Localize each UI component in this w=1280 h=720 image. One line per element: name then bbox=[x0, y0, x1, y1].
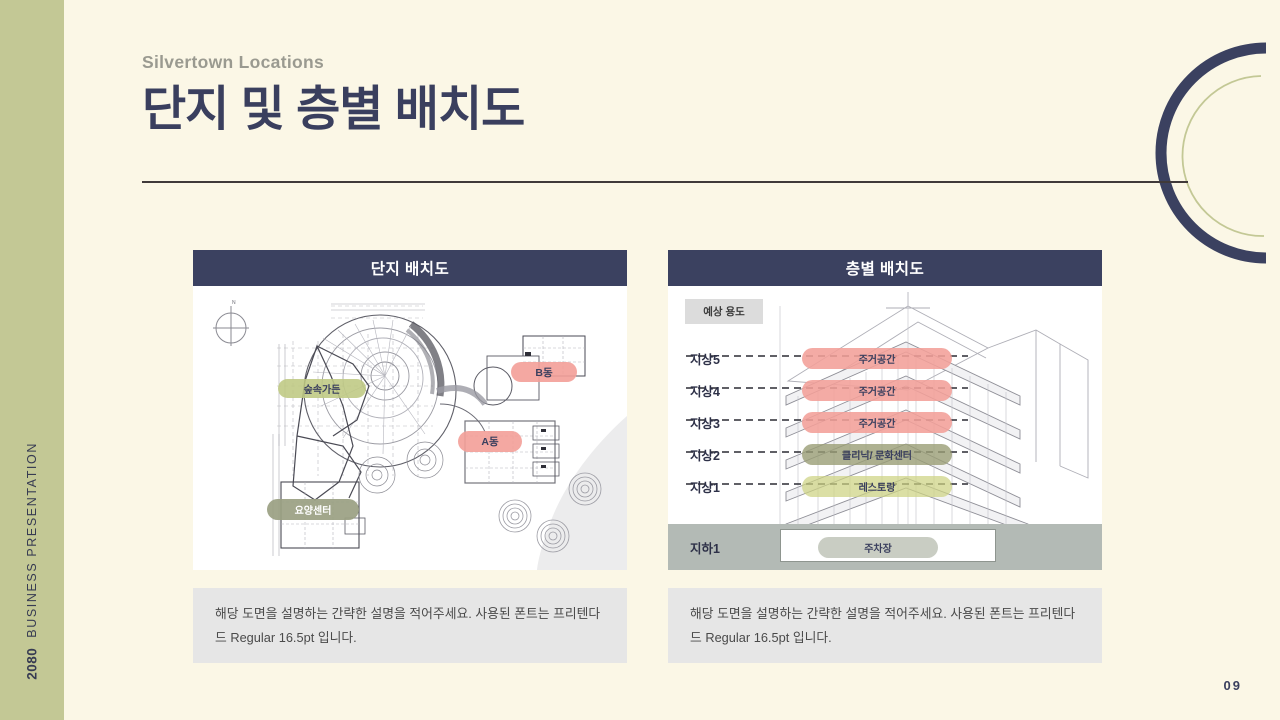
usage-tag: 예상 용도 bbox=[685, 299, 763, 324]
floor-usage-badge-4: 주거공간 bbox=[802, 380, 952, 401]
card-body-site-plan: N bbox=[193, 286, 627, 570]
card-site-plan: 단지 배치도 N bbox=[193, 250, 627, 663]
floor-usage-badge-b1: 주차장 bbox=[818, 537, 938, 558]
svg-text:N: N bbox=[232, 300, 236, 306]
card-header-floor-plan: 층별 배치도 bbox=[668, 250, 1102, 286]
connector-road bbox=[437, 388, 485, 404]
label-garden: 숲속가든 bbox=[278, 379, 366, 398]
floor-usage-badge-1: 레스토랑 bbox=[802, 476, 952, 497]
olive-arc-icon bbox=[1182, 76, 1264, 236]
page-number: 09 bbox=[1224, 678, 1242, 693]
compass-icon: N bbox=[213, 300, 249, 346]
page-header: Silvertown Locations 단지 및 층별 배치도 bbox=[142, 52, 524, 135]
navy-arc-icon bbox=[1161, 48, 1266, 258]
sidebar: 2080 BUSINESS PRESENTATION bbox=[0, 0, 64, 720]
label-care-center: 요양센터 bbox=[267, 499, 359, 520]
floor-row-3: 지상3 주거공간 bbox=[668, 406, 1102, 438]
pathway-outline bbox=[293, 346, 369, 500]
title-divider bbox=[142, 181, 1188, 183]
floor-usage-badge-2: 클리닉/ 문화센터 bbox=[802, 444, 952, 465]
floor-usage-badge-5: 주거공간 bbox=[802, 348, 952, 369]
sidebar-subtitle: BUSINESS PRESENTATION bbox=[25, 442, 39, 638]
floor-usage-badge-3: 주거공간 bbox=[802, 412, 952, 433]
floor-row-1: 지상1 레스토랑 bbox=[668, 470, 1102, 502]
page-title: 단지 및 층별 배치도 bbox=[142, 85, 524, 135]
slide: 2080 BUSINESS PRESENTATION Silvertown Lo… bbox=[0, 0, 1280, 720]
floor-row-b1: 지하1 주차장 bbox=[668, 524, 1102, 570]
floor-label-4: 지상4 bbox=[668, 381, 756, 400]
card-header-site-plan: 단지 배치도 bbox=[193, 250, 627, 286]
floor-row-5: 지상5 주거공간 bbox=[668, 342, 1102, 374]
sidebar-vertical-label: 2080 BUSINESS PRESENTATION bbox=[25, 442, 40, 680]
card-body-floor-plan: 예상 용도 지상5 주거공간 지상4 주거공간 지상3 주거공간 지상2 클리닉… bbox=[668, 286, 1102, 570]
label-building-b: B동 bbox=[511, 362, 577, 382]
site-plan-drawing: N bbox=[193, 286, 627, 570]
floor-label-2: 지상2 bbox=[668, 445, 756, 464]
floor-label-b1: 지하1 bbox=[668, 538, 756, 557]
label-building-a: A동 bbox=[458, 431, 522, 452]
floor-row-4: 지상4 주거공간 bbox=[668, 374, 1102, 406]
caption-floor-plan: 해당 도면을 설명하는 간략한 설명을 적어주세요. 사용된 폰트는 프리텐다드… bbox=[668, 588, 1102, 663]
brand-logo: 2080 bbox=[25, 648, 40, 680]
caption-site-plan: 해당 도면을 설명하는 간략한 설명을 적어주세요. 사용된 폰트는 프리텐다드… bbox=[193, 588, 627, 663]
plan-tree-icons bbox=[359, 442, 443, 493]
card-floor-plan: 층별 배치도 bbox=[668, 250, 1102, 663]
floor-label-5: 지상5 bbox=[668, 349, 756, 368]
floor-label-1: 지상1 bbox=[668, 477, 756, 496]
floor-label-3: 지상3 bbox=[668, 413, 756, 432]
decorative-arc-group bbox=[1016, 18, 1280, 288]
floor-row-2: 지상2 클리닉/ 문화센터 bbox=[668, 438, 1102, 470]
eyebrow-text: Silvertown Locations bbox=[142, 52, 524, 73]
